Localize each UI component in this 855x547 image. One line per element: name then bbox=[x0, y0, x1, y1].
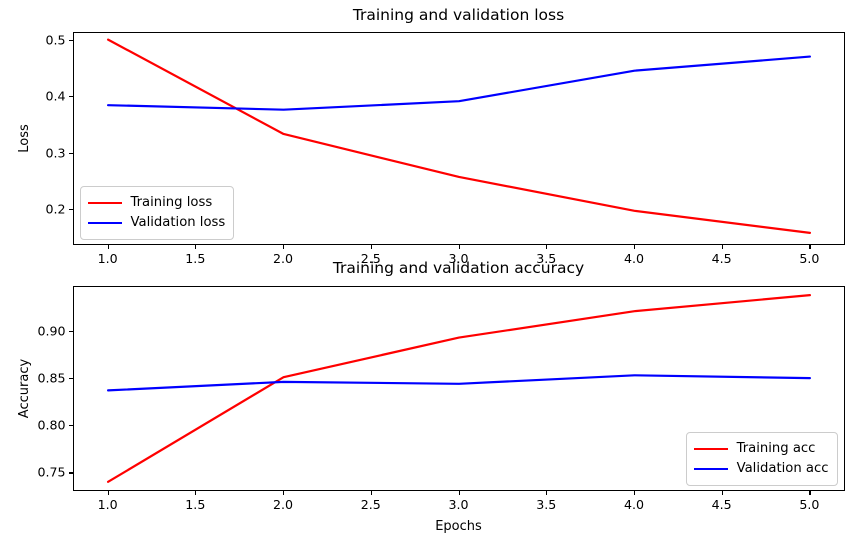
x-tick-label: 2.5 bbox=[361, 497, 381, 512]
y-axis-label-loss: Loss bbox=[17, 32, 32, 245]
x-tick-label: 1.0 bbox=[98, 497, 118, 512]
x-tick-mark bbox=[459, 491, 460, 495]
y-tick-label: 0.85 bbox=[37, 371, 65, 386]
legend-label-validation-acc: Validation acc bbox=[737, 462, 829, 475]
x-tick-mark bbox=[108, 245, 109, 249]
x-tick-mark bbox=[722, 491, 723, 495]
x-tick-mark bbox=[195, 245, 196, 249]
y-tick-mark bbox=[69, 378, 73, 379]
legend-swatch-training-acc bbox=[694, 448, 728, 450]
y-tick-label: 0.80 bbox=[37, 418, 65, 433]
matplotlib-figure: Training and validation loss Loss 1.01.5… bbox=[0, 0, 855, 547]
chart-title-loss: Training and validation loss bbox=[73, 6, 845, 24]
y-tick-label: 0.75 bbox=[37, 465, 65, 480]
y-tick-mark bbox=[69, 425, 73, 426]
x-tick-label: 2.0 bbox=[273, 497, 293, 512]
x-tick-label: 4.0 bbox=[624, 497, 644, 512]
x-tick-mark bbox=[722, 245, 723, 249]
y-tick-mark bbox=[69, 40, 73, 41]
x-tick-label: 3.5 bbox=[536, 497, 556, 512]
legend-swatch-validation-acc bbox=[694, 468, 728, 470]
y-tick-label: 0.5 bbox=[45, 32, 65, 47]
x-tick-mark bbox=[283, 245, 284, 249]
loss-legend[interactable]: Training loss Validation loss bbox=[80, 186, 235, 240]
y-tick-label: 0.3 bbox=[45, 145, 65, 160]
x-tick-label: 3.0 bbox=[448, 497, 468, 512]
legend-label-validation-loss: Validation loss bbox=[131, 216, 226, 229]
legend-swatch-training-loss bbox=[88, 202, 122, 204]
x-tick-mark bbox=[195, 491, 196, 495]
y-tick-mark bbox=[69, 331, 73, 332]
y-tick-mark bbox=[69, 472, 73, 473]
legend-item-validation-loss[interactable]: Validation loss bbox=[88, 213, 226, 233]
x-tick-mark bbox=[108, 491, 109, 495]
x-tick-label: 5.0 bbox=[799, 497, 819, 512]
x-tick-mark bbox=[283, 491, 284, 495]
y-tick-label: 0.2 bbox=[45, 202, 65, 217]
x-tick-mark bbox=[371, 245, 372, 249]
x-tick-mark bbox=[809, 245, 810, 249]
legend-item-validation-acc[interactable]: Validation acc bbox=[694, 459, 829, 479]
x-tick-mark bbox=[634, 245, 635, 249]
series-line bbox=[108, 375, 810, 390]
x-tick-mark bbox=[371, 491, 372, 495]
y-tick-mark bbox=[69, 153, 73, 154]
legend-swatch-validation-loss bbox=[88, 222, 122, 224]
legend-item-training-acc[interactable]: Training acc bbox=[694, 439, 829, 459]
x-tick-mark bbox=[809, 491, 810, 495]
accuracy-legend[interactable]: Training acc Validation acc bbox=[686, 432, 838, 486]
x-tick-mark bbox=[546, 245, 547, 249]
series-line bbox=[108, 57, 810, 110]
y-axis-label-accuracy: Accuracy bbox=[17, 286, 32, 491]
y-tick-label: 0.90 bbox=[37, 323, 65, 338]
legend-item-training-loss[interactable]: Training loss bbox=[88, 193, 226, 213]
legend-label-training-acc: Training acc bbox=[737, 442, 816, 455]
legend-label-training-loss: Training loss bbox=[131, 196, 213, 209]
y-tick-mark bbox=[69, 209, 73, 210]
x-tick-label: 4.5 bbox=[712, 497, 732, 512]
x-tick-mark bbox=[634, 491, 635, 495]
x-tick-label: 1.5 bbox=[185, 497, 205, 512]
chart-title-accuracy: Training and validation accuracy bbox=[73, 259, 845, 277]
x-tick-mark bbox=[459, 245, 460, 249]
x-tick-mark bbox=[546, 491, 547, 495]
x-axis-label-epochs: Epochs bbox=[435, 519, 482, 534]
y-tick-label: 0.4 bbox=[45, 89, 65, 104]
y-tick-mark bbox=[69, 96, 73, 97]
